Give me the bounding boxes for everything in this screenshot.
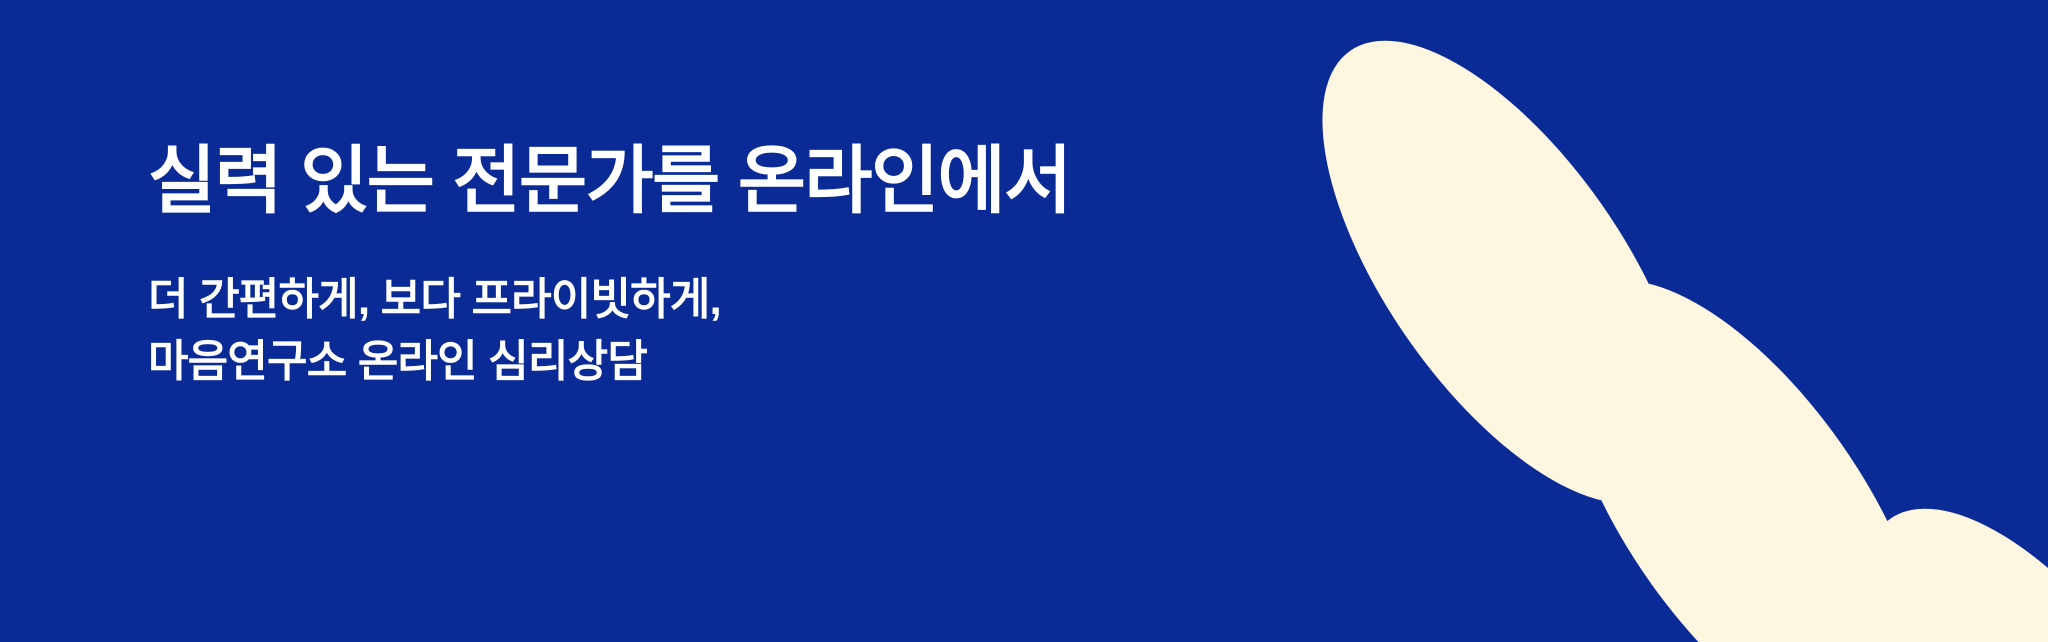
promo-banner: 실력 있는 전문가를 온라인에서 더 간편하게, 보다 프라이빗하게, 마음연구…: [0, 0, 2048, 642]
ellipse-corner-partial-shape: [1793, 451, 2048, 642]
ellipse-upper-left-shape: [1253, 0, 1756, 561]
banner-subtitle-line-1: 더 간편하게, 보다 프라이빗하게,: [148, 269, 1248, 331]
banner-headline: 실력 있는 전문가를 온라인에서: [148, 140, 1248, 223]
banner-subtitle-line-2: 마음연구소 온라인 심리상담: [148, 331, 1248, 393]
ellipse-lower-right-shape: [1493, 223, 1996, 642]
banner-text-block: 실력 있는 전문가를 온라인에서 더 간편하게, 보다 프라이빗하게, 마음연구…: [148, 140, 1248, 394]
